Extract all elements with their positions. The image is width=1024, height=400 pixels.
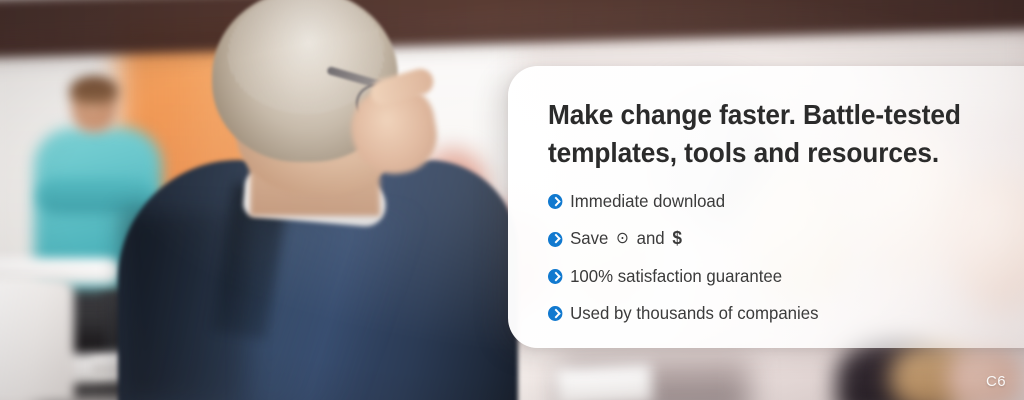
benefit-list: Immediate download Save ⊙ and $ 100% sat… — [548, 192, 1024, 324]
arrow-circle-right-icon — [548, 194, 562, 209]
list-item-label: Used by thousands of companies — [570, 304, 818, 323]
list-item: Used by thousands of companies — [548, 304, 1009, 323]
hero-banner: Make change faster. Battle-tested templa… — [0, 0, 1024, 400]
dollar-icon: $ — [672, 229, 682, 249]
background-person-crossed-arms — [38, 178, 154, 214]
list-item: 100% satisfaction guarantee — [548, 267, 1009, 286]
arrow-circle-right-icon — [548, 269, 562, 284]
background-person-hair — [70, 76, 118, 104]
list-item: Save ⊙ and $ — [548, 229, 1009, 249]
list-item: Immediate download — [548, 192, 1009, 211]
foreground-audience-hand — [948, 348, 1020, 400]
cocktail-table-stem — [0, 278, 74, 400]
arrow-circle-right-icon — [548, 306, 562, 321]
card-heading: Make change faster. Battle-tested templa… — [548, 96, 983, 172]
list-item-label: Immediate download — [570, 192, 725, 211]
list-item-label: Save — [570, 229, 608, 248]
clock-icon: ⊙ — [616, 230, 629, 248]
watermark-label: C6 — [986, 373, 1006, 390]
foreground-paper — [555, 364, 653, 400]
list-item-label-middle: and — [637, 229, 665, 248]
arrow-circle-right-icon — [548, 232, 562, 247]
list-item-label: 100% satisfaction guarantee — [570, 267, 782, 286]
promo-card: Make change faster. Battle-tested templa… — [508, 66, 1024, 348]
